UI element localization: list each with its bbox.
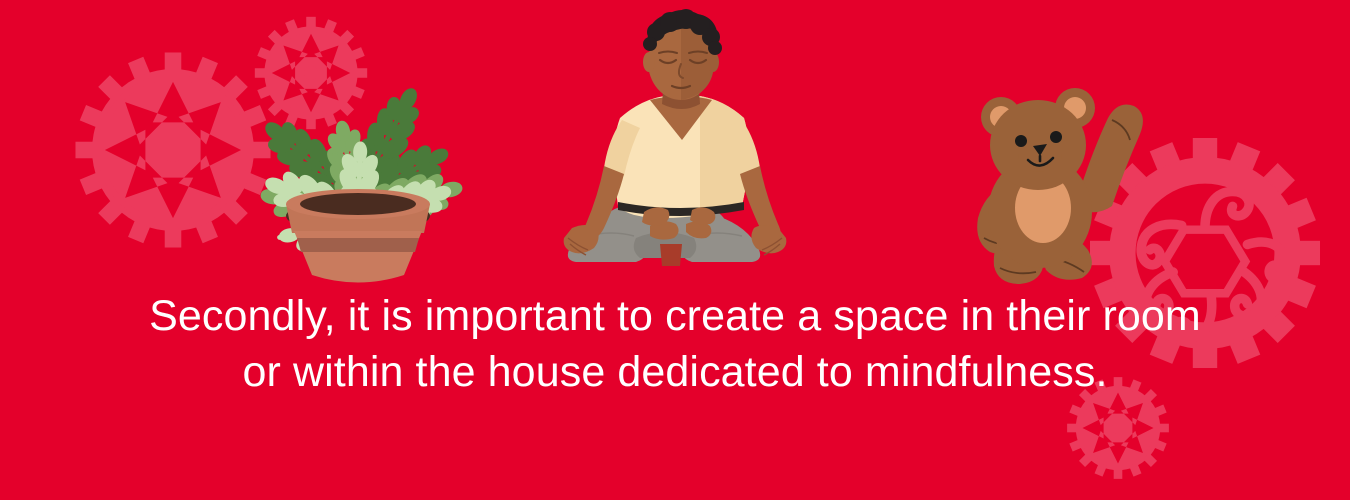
caption-layer: Secondly, it is important to create a sp… [0,0,1350,500]
plant-soil [286,199,430,233]
bear-left-eye [1015,135,1027,147]
person-right-thigh [680,214,760,262]
person-face-shadow [681,24,714,100]
caption-block: Secondly, it is important to create a sp… [0,288,1350,400]
bear-right-eye [1050,131,1062,143]
person-neck [662,78,700,109]
bear-foot-crease-right [1052,258,1084,272]
person-eyes-closed [660,60,706,63]
gear-small-bottom-right-icon [1067,377,1169,479]
bear-left-leg [994,226,1044,284]
bear-right-leg [1041,228,1092,280]
teddy-bear [977,88,1143,284]
gear-small-top-left-icon [255,17,367,129]
person-lap [600,206,728,258]
illustration-layer [0,0,1350,500]
person-eyebrows [659,52,707,54]
person-mouth [672,86,690,88]
bear-left-arm [977,186,1020,254]
person-right-arm [740,166,781,240]
bear-paw-crease-left-arm [984,238,1012,244]
person-right-hand [751,225,786,253]
fern-fronds-dark [254,81,455,213]
potted-fern-plant [254,81,464,283]
person-left-hand [564,225,599,253]
gear-ornate-right-icon [1091,139,1320,368]
person-right-sleeve [724,120,760,176]
bear-nose [1033,144,1047,156]
person-shirt-shadow [700,96,749,216]
bear-body [988,156,1092,268]
person-head [648,24,714,100]
fern-fronds-light [260,143,456,257]
bear-paw-crease-right-arm [1112,120,1130,140]
person-cloth-accent [660,244,682,266]
bear-raised-arm [1078,105,1143,213]
person-right-foot [686,221,711,238]
person-left-ear [643,52,655,72]
person-left-thigh [568,214,648,262]
person-left-fingers [568,238,588,255]
bear-left-ear [981,97,1021,137]
caption-line-2: or within the house dedicated to mindful… [0,344,1350,400]
meditating-person [564,9,787,266]
fern-fronds-mid [259,120,465,237]
person-shirt [613,96,749,218]
person-right-fingers [762,238,782,255]
bear-right-ear [1055,88,1095,128]
person-lap-hand-left [642,207,669,225]
slide-canvas: Secondly, it is important to create a sp… [0,0,1350,500]
person-right-ear [707,52,719,72]
person-left-sleeve [604,120,640,176]
person-pant-creases [586,233,742,236]
gear-decoration-layer [0,0,1350,500]
pot-band [297,238,419,252]
person-hair-curls [643,9,722,55]
bear-mouth [1028,156,1053,166]
bear-belly [1015,173,1071,243]
person-belt [618,202,744,216]
bear-head [990,100,1086,190]
caption-line-1: Secondly, it is important to create a sp… [0,288,1350,344]
pot-body [294,231,422,283]
gear-large-left-icon [75,52,270,247]
pot-rim [286,204,430,233]
bear-muzzle [1018,140,1062,172]
person-hair [647,10,718,50]
bear-left-inner-ear [990,106,1012,128]
pot-soil-top [300,193,416,215]
person-nose [679,64,683,78]
pot-rim-top [286,189,430,219]
person-vneck [650,96,712,140]
bear-right-inner-ear [1064,97,1086,119]
person-lap-hand-right [690,207,715,224]
person-shins [634,232,697,258]
bear-foot-crease-left [1000,268,1036,273]
person-left-arm [583,166,624,240]
person-left-foot [650,221,679,239]
